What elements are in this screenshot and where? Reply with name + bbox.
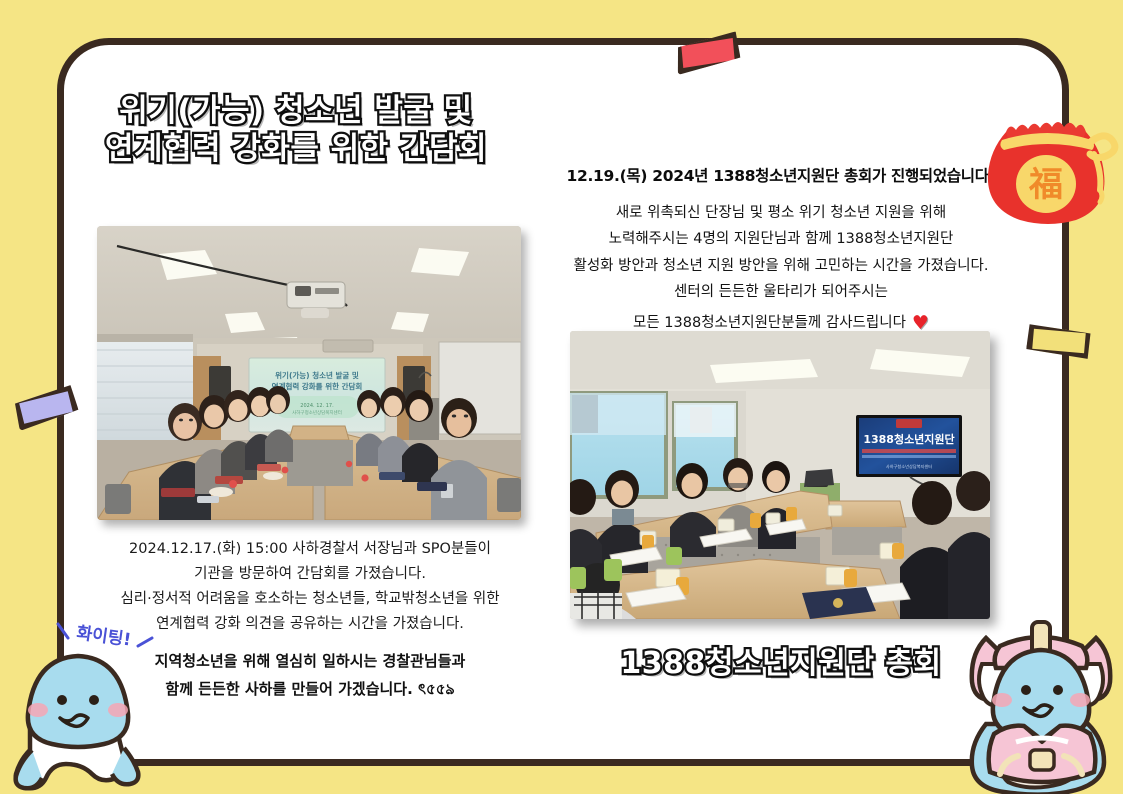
right-section-title: 1388청소년지원단 총회 [556,646,1006,683]
svg-text:사하구청소년상담복지센터: 사하구청소년상담복지센터 [886,463,932,470]
blue-ghost-mascot-left [6,638,152,794]
left-photo-frame: 위기(가능) 청소년 발굴 및 연계협력 강화를 위한 간담회 2024. 12… [97,226,521,520]
lucky-bag-fortune-icon: 福 [976,88,1122,228]
lucky-bag-character: 福 [1028,165,1063,205]
svg-text:2024. 12. 17.: 2024. 12. 17. [300,403,334,409]
poster-content: 위기(가능) 청소년 발굴 및 연계협력 강화를 위한 간담회 [0,0,1123,794]
right-headline: 12.19.(목) 2024년 1388청소년지원단 총회가 진행되었습니다! [556,166,1006,188]
meeting-room-photo-general-assembly: 1388청소년지원단 사하구청소년상담복지센터 [570,331,990,619]
blue-ghost-mascot-hanbok-right [958,620,1123,794]
fighting-handwritten-text: 화이팅! [52,612,162,660]
meeting-room-photo-police-visit: 위기(가능) 청소년 발굴 및 연계협력 강화를 위한 간담회 2024. 12… [97,226,521,520]
left-column-header: 위기(가능) 청소년 발굴 및 연계협력 강화를 위한 간담회 [61,92,531,168]
right-photo-frame: 1388청소년지원단 사하구청소년상담복지센터 [570,331,990,619]
svg-text:위기(가능) 청소년 발굴 및: 위기(가능) 청소년 발굴 및 [275,370,359,380]
left-section-title: 위기(가능) 청소년 발굴 및 연계협력 강화를 위한 간담회 [61,92,531,168]
svg-text:사하구청소년상담복지센터: 사하구청소년상담복지센터 [292,409,342,416]
svg-text:1388청소년지원단: 1388청소년지원단 [863,432,954,446]
right-title-wrap: 1388청소년지원단 총회 [556,646,1006,683]
right-body-text: 새로 위촉되신 단장님 및 평소 위기 청소년 지원을 위해 노력해주시는 4명… [548,200,1014,340]
fighting-text-label: 화이팅! [75,623,132,650]
